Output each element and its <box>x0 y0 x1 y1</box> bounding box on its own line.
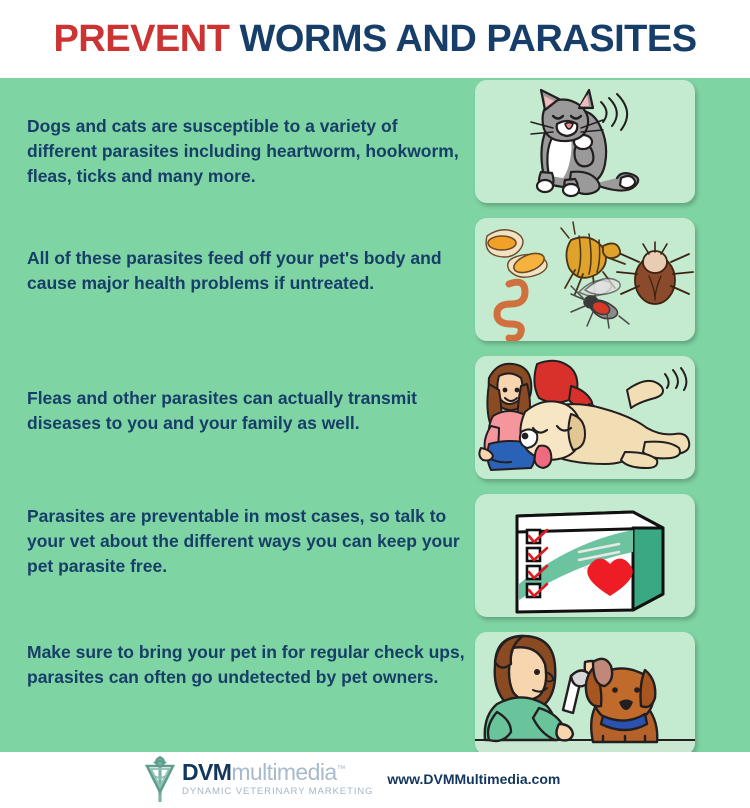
illustration-panel-family-with-dog <box>475 356 695 479</box>
body-text-disease-transmission: Fleas and other parasites can actually t… <box>27 386 467 436</box>
illustration-panel-parasite-types <box>475 218 695 341</box>
parasite-egg-icon <box>486 230 547 277</box>
website-url[interactable]: www.DVMMultimedia.com <box>387 771 560 787</box>
body-text-checkups: Make sure to bring your pet in for regul… <box>27 640 467 690</box>
illustration-panel-vet-exam <box>475 632 695 755</box>
mosquito-icon <box>571 278 629 328</box>
family-with-dog-icon <box>475 356 695 479</box>
page-title: PREVENT WORMS AND PARASITES <box>53 18 696 61</box>
text-column: Dogs and cats are susceptible to a varie… <box>0 78 470 752</box>
footer-brand: DVMmultimedia™ DYNAMIC VETERINARY MARKET… <box>143 754 560 804</box>
body-text-prevention: Parasites are preventable in most cases,… <box>27 504 467 579</box>
header: PREVENT WORMS AND PARASITES <box>0 0 750 78</box>
illustration-panel-cat-scratching <box>475 80 695 203</box>
worm-icon <box>497 282 525 338</box>
body-text-health-problems: All of these parasites feed off your pet… <box>27 246 467 296</box>
title-highlight: PREVENT <box>53 18 229 60</box>
logo-dvm: DVM <box>182 759 231 785</box>
illustration-panel-medication-box <box>475 494 695 617</box>
tick-icon <box>617 242 693 304</box>
caduceus-logo-icon <box>143 754 177 804</box>
logo-wordmark: DVMmultimedia™ <box>182 761 373 784</box>
medication-box-icon <box>475 494 695 617</box>
logo-multimedia: multimedia <box>231 759 336 785</box>
infographic-canvas: PREVENT WORMS AND PARASITES Dogs and cat… <box>0 0 750 808</box>
body-text-susceptibility: Dogs and cats are susceptible to a varie… <box>27 114 467 189</box>
title-rest: WORMS AND PARASITES <box>229 18 696 60</box>
parasite-types-icon <box>475 218 695 341</box>
logo-tagline: DYNAMIC VETERINARY MARKETING <box>182 787 373 797</box>
trademark-symbol: ™ <box>337 764 345 774</box>
vet-exam-icon <box>475 632 695 755</box>
logo-text: DVMmultimedia™ DYNAMIC VETERINARY MARKET… <box>182 761 373 797</box>
cat-scratching-icon <box>475 80 695 203</box>
footer: DVMmultimedia™ DYNAMIC VETERINARY MARKET… <box>0 752 750 808</box>
